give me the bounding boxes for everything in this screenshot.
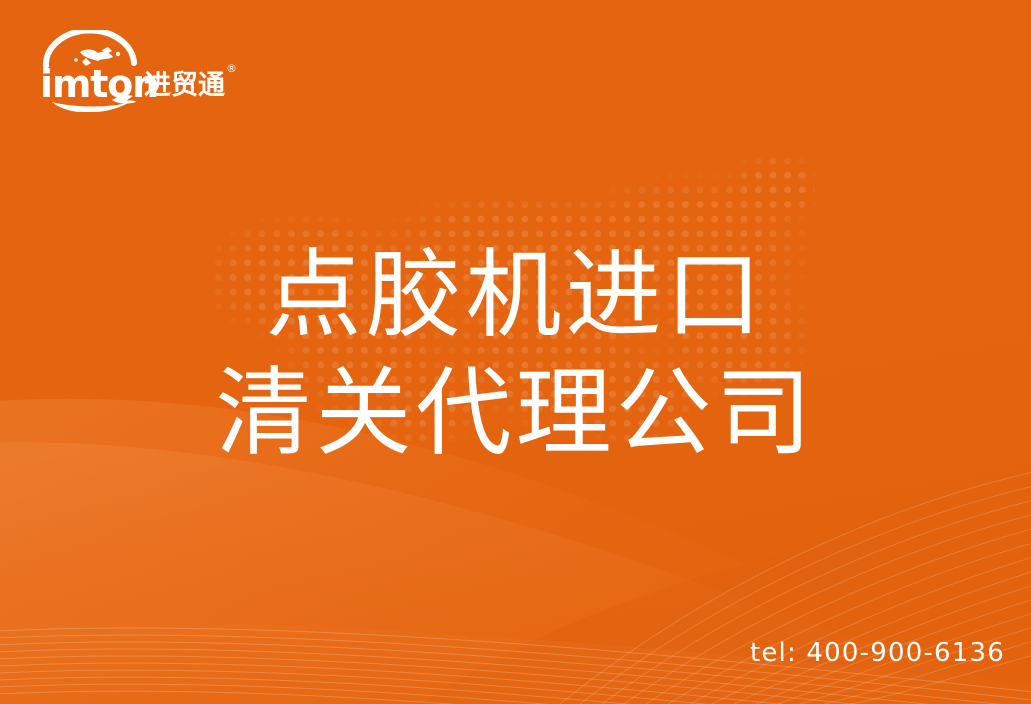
company-logo: imton 进贸通 ® imton 进贸通	[34, 30, 244, 112]
logo-trademark-symbol: ®	[226, 62, 237, 75]
logo-chinese-name: 进贸通	[144, 70, 225, 101]
headline-line-1: 点胶机进口	[0, 236, 1031, 354]
contact-phone: tel: 400-900-6136	[750, 638, 1005, 668]
headline-line-2: 清关代理公司	[0, 354, 1031, 472]
headline-block: 点胶机进口 清关代理公司	[0, 236, 1031, 472]
globe-arc-icon	[46, 30, 134, 66]
promotional-banner: imton 进贸通 ® imton 进贸通 点胶机进口 清关代理公司 tel: …	[0, 0, 1031, 704]
logo-wordmark: imton	[40, 62, 158, 106]
